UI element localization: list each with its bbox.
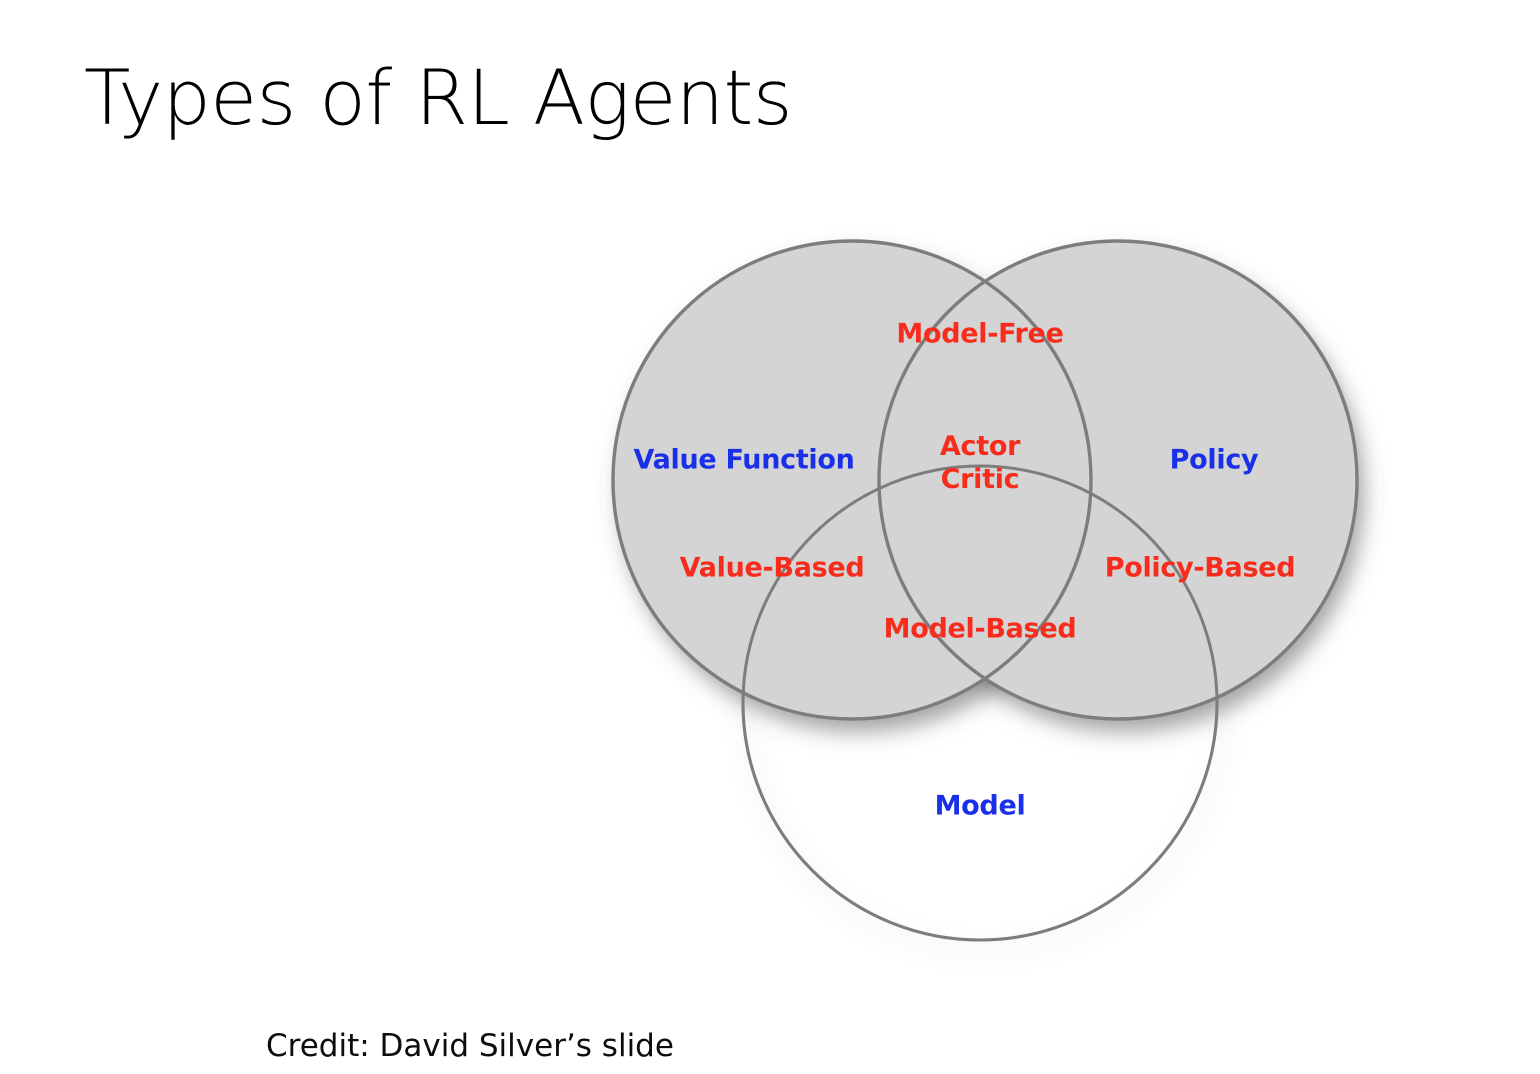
venn-label-model: Model [935,790,1026,821]
venn-label-actor-critic: Actor Critic [940,431,1020,497]
venn-label-actor-critic-line1: Actor [940,431,1020,464]
venn-diagram: Value Function Policy Model Model-Free A… [0,0,1540,1074]
venn-label-actor-critic-line2: Critic [940,464,1020,497]
venn-label-model-free: Model-Free [896,318,1063,349]
model-circle-overlap-fill [743,466,1217,940]
venn-label-value-function: Value Function [633,444,854,475]
venn-diagram-svg [0,0,1540,1074]
venn-label-policy-based: Policy-Based [1105,552,1296,583]
credit-text: Credit: David Silver’s slide [266,1028,674,1064]
venn-label-policy: Policy [1170,444,1259,475]
slide-canvas: Types of RL Agents [0,0,1540,1074]
venn-label-model-based: Model-Based [884,613,1077,644]
venn-label-value-based: Value-Based [680,552,865,583]
